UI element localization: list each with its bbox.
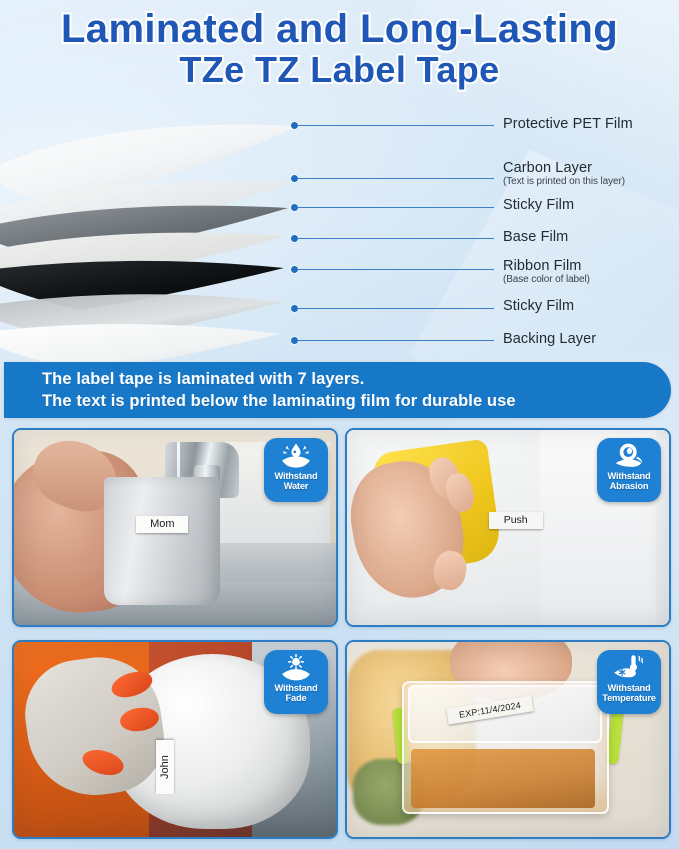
- badge-withstand-abrasion: Withstand Abrasion: [597, 438, 661, 502]
- infographic-page: Laminated and Long-Lasting TZe TZ Label …: [0, 0, 679, 849]
- badge-text: Withstand Water: [274, 471, 317, 492]
- leader-line-2: [297, 178, 494, 179]
- badge-withstand-water: Withstand Water: [264, 438, 328, 502]
- badge-withstand-temperature: Withstand Temperature: [597, 650, 661, 714]
- badge-text: Withstand Fade: [274, 683, 317, 704]
- layer-label-list: Protective PET Film Carbon Layer (Text i…: [503, 108, 679, 358]
- badge-line-1: Withstand: [274, 471, 317, 481]
- thermometer-snowflake-icon: [612, 654, 646, 682]
- feature-photo-grid: Mom Withstand Water: [0, 428, 679, 849]
- layer-label-2: Carbon Layer (Text is printed on this la…: [503, 160, 625, 187]
- tape-label-mom: Mom: [136, 516, 188, 533]
- badge-line-2: Temperature: [602, 693, 655, 703]
- badge-line-2: Water: [274, 481, 317, 491]
- leader-line-5: [297, 269, 494, 270]
- tape-label-john: John: [156, 740, 174, 794]
- badge-line-1: Withstand: [607, 683, 650, 693]
- photo-frame: EXP:11/4/2024: [345, 640, 671, 839]
- photo-frame: Push Withstand Abrasion: [345, 428, 671, 627]
- badge-line-1: Withstand: [607, 471, 650, 481]
- badge-line-2: Abrasion: [607, 481, 650, 491]
- feature-panel-fade: John: [12, 640, 338, 839]
- leader-line-3: [297, 207, 494, 208]
- sun-fade-icon: [279, 654, 313, 682]
- layer-label-7: Backing Layer: [503, 331, 596, 347]
- layer-label-4: Base Film: [503, 229, 568, 245]
- feature-panel-temperature: EXP:11/4/2024: [345, 640, 671, 839]
- tape-label-push: Push: [489, 512, 543, 529]
- laminate-info-banner: The label tape is laminated with 7 layer…: [4, 362, 671, 418]
- leader-line-1: [297, 125, 494, 126]
- banner-line-2: The text is printed below the laminating…: [42, 391, 671, 413]
- layer-label-3: Sticky Film: [503, 197, 574, 213]
- badge-withstand-fade: Withstand Fade: [264, 650, 328, 714]
- abrasion-swirl-icon: [612, 442, 646, 470]
- feature-panel-water: Mom Withstand Water: [12, 428, 338, 627]
- title-line-1: Laminated and Long-Lasting: [0, 8, 679, 51]
- photo-frame: Mom Withstand Water: [12, 428, 338, 627]
- badge-line-2: Fade: [274, 693, 317, 703]
- layer-label-1: Protective PET Film: [503, 116, 633, 132]
- banner-line-1: The label tape is laminated with 7 layer…: [42, 369, 671, 391]
- leader-line-7: [297, 340, 494, 341]
- page-title: Laminated and Long-Lasting TZe TZ Label …: [0, 8, 679, 90]
- badge-text: Withstand Abrasion: [607, 471, 650, 492]
- water-drop-splash-icon: [279, 442, 313, 470]
- feature-panel-abrasion: Push Withstand Abrasion: [345, 428, 671, 627]
- layer-label-5: Ribbon Film (Base color of label): [503, 258, 590, 285]
- layer-label-6: Sticky Film: [503, 298, 574, 314]
- title-line-2: TZe TZ Label Tape: [0, 51, 679, 90]
- badge-line-1: Withstand: [274, 683, 317, 693]
- leader-line-6: [297, 308, 494, 309]
- badge-text: Withstand Temperature: [602, 683, 655, 704]
- photo-frame: John: [12, 640, 338, 839]
- leader-line-4: [297, 238, 494, 239]
